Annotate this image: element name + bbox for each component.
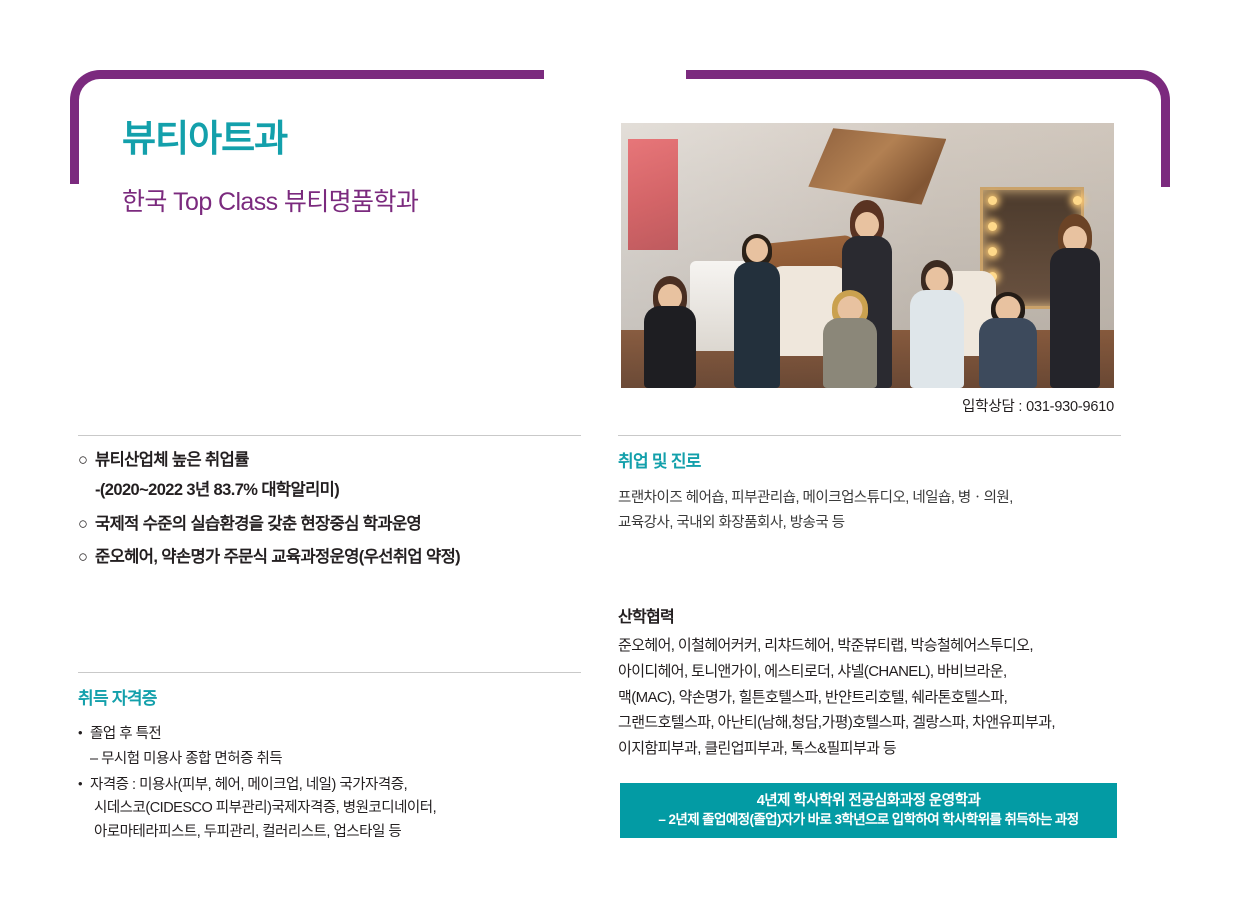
person-figure xyxy=(818,282,882,388)
cooperation-body: 준오헤어, 이철헤어커커, 리챠드헤어, 박준뷰티랩, 박승철헤어스투디오, 아… xyxy=(618,633,1133,762)
salon-classroom-image xyxy=(621,123,1114,388)
feature-subtext: -(2020~2022 3년 83.7% 대학알리미) xyxy=(78,479,598,501)
career-line-1: 프랜차이즈 헤어숍, 피부관리숍, 메이크업스튜디오, 네일숍, 병ㆍ의원, xyxy=(618,486,1128,511)
certifications-list: 졸업 후 특전 – 무시험 미용사 종합 면허증 취득 자격증 : 미용사(피부… xyxy=(78,723,598,844)
divider-right-top xyxy=(618,435,1121,436)
bullet-circle-icon: ○ xyxy=(78,546,95,568)
coop-line-2: 아이디헤어, 토니앤가이, 에스티로더, 샤넬(CHANEL), 바비브라운, xyxy=(618,659,1133,685)
banner-title: 4년제 학사학위 전공심화과정 운영학과 xyxy=(757,791,981,811)
career-line-2: 교육강사, 국내외 화장품회사, 방송국 등 xyxy=(618,511,1128,536)
divider-left-top xyxy=(78,435,581,436)
page-title: 뷰티아트과 xyxy=(122,118,592,161)
department-photo xyxy=(621,123,1114,388)
top-rule-right xyxy=(686,70,1116,79)
top-rule-left xyxy=(124,70,544,79)
career-body: 프랜차이즈 헤어숍, 피부관리숍, 메이크업스튜디오, 네일숍, 병ㆍ의원, 교… xyxy=(618,486,1128,537)
coop-line-5: 이지함피부과, 클린업피부과, 톡스&필피부과 등 xyxy=(618,736,1133,762)
banner-subtitle: – 2년제 졸업예정(졸업)자가 바로 3학년으로 입학하여 학사학위를 취득하… xyxy=(658,811,1078,830)
certifications-section: 취득 자격증 졸업 후 특전 – 무시험 미용사 종합 면허증 취득 자격증 :… xyxy=(78,684,598,846)
list-item: 자격증 : 미용사(피부, 헤어, 메이크업, 네일) 국가자격증, 시데스코(… xyxy=(78,774,598,844)
degree-program-banner: 4년제 학사학위 전공심화과정 운영학과 – 2년제 졸업예정(졸업)자가 바로… xyxy=(620,783,1117,838)
admissions-phone: 입학상담 : 031-930-9610 xyxy=(962,395,1114,416)
cert-line-1: 자격증 : 미용사(피부, 헤어, 메이크업, 네일) 국가자격증, xyxy=(90,777,407,793)
wall-display-icon xyxy=(628,139,677,250)
feature-text: 국제적 수준의 실습환경을 갖춘 현장중심 학과운영 xyxy=(95,515,421,533)
list-item: ○준오헤어, 약손명가 주문식 교육과정운영(우선취업 약정) xyxy=(78,546,598,568)
career-section: 취업 및 진로 프랜차이즈 헤어숍, 피부관리숍, 메이크업스튜디오, 네일숍,… xyxy=(618,447,1128,537)
department-header: 뷰티아트과 한국 Top Class 뷰티명품학과 xyxy=(122,118,592,217)
person-figure xyxy=(641,271,700,388)
person-figure xyxy=(729,250,783,388)
coop-line-1: 준오헤어, 이철헤어커커, 리챠드헤어, 박준뷰티랩, 박승철헤어스투디오, xyxy=(618,633,1133,659)
person-figure xyxy=(1045,224,1104,388)
list-item: 졸업 후 특전 xyxy=(78,723,598,746)
feature-list: ○뷰티산업체 높은 취업률 -(2020~2022 3년 83.7% 대학알리미… xyxy=(78,449,598,568)
cooperation-section: 산학협력 준오헤어, 이철헤어커커, 리챠드헤어, 박준뷰티랩, 박승철헤어스투… xyxy=(618,603,1133,762)
cert-line-3: 아로마테라피스트, 두피관리, 컬러리스트, 업스타일 등 xyxy=(90,821,598,844)
bullet-circle-icon: ○ xyxy=(78,513,95,535)
cert-benefit-detail: – 무시험 미용사 종합 면허증 취득 xyxy=(90,751,282,767)
coop-line-3: 맥(MAC), 약손명가, 힐튼호텔스파, 반얀트리호텔, 쉐라톤호텔스파, xyxy=(618,685,1133,711)
list-item: – 무시험 미용사 종합 면허증 취득 xyxy=(78,748,598,771)
features-section: ○뷰티산업체 높은 취업률 -(2020~2022 3년 83.7% 대학알리미… xyxy=(78,449,598,579)
brochure-page: 뷰티아트과 한국 Top Class 뷰티명품학과 xyxy=(0,0,1240,915)
coop-line-4: 그랜드호텔스파, 아난티(남해,청담,가평)호텔스파, 겔랑스파, 차앤유피부과… xyxy=(618,710,1133,736)
bullet-circle-icon: ○ xyxy=(78,449,95,471)
career-heading: 취업 및 진로 xyxy=(618,447,1128,472)
list-item: ○국제적 수준의 실습환경을 갖춘 현장중심 학과운영 xyxy=(78,513,598,535)
person-figure xyxy=(976,282,1040,388)
feature-text: 뷰티산업체 높은 취업률 xyxy=(95,451,249,469)
cooperation-heading: 산학협력 xyxy=(618,603,1133,627)
cert-line-2: 시데스코(CIDESCO 피부관리)국제자격증, 병원코디네이터, xyxy=(90,797,598,820)
divider-left-middle xyxy=(78,672,581,673)
person-figure xyxy=(907,261,966,388)
certifications-heading: 취득 자격증 xyxy=(78,684,598,709)
cert-benefit-label: 졸업 후 특전 xyxy=(90,726,161,742)
list-item: ○뷰티산업체 높은 취업률 -(2020~2022 3년 83.7% 대학알리미… xyxy=(78,449,598,502)
page-subtitle: 한국 Top Class 뷰티명품학과 xyxy=(122,187,592,217)
feature-text: 준오헤어, 약손명가 주문식 교육과정운영(우선취업 약정) xyxy=(95,548,460,566)
